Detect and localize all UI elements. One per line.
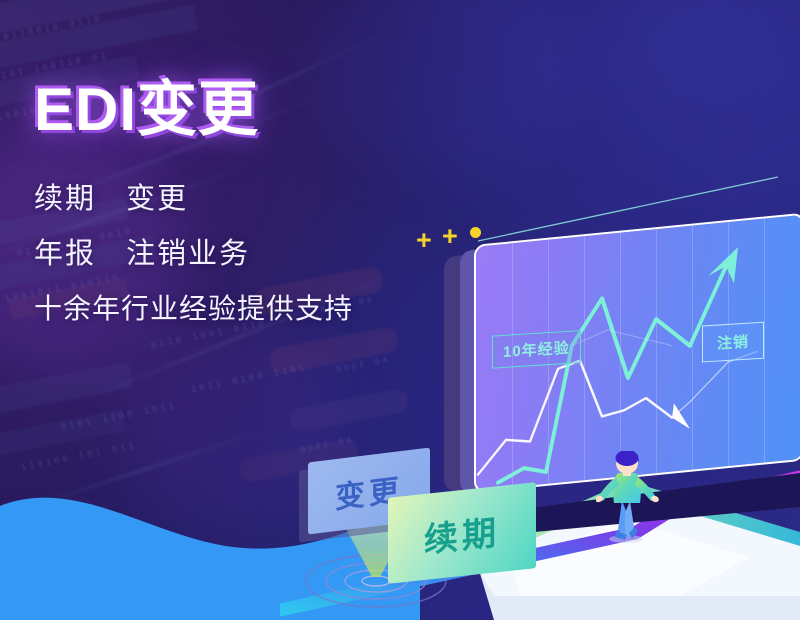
promo-banner: 10110010 0110 0101 100110 01 110010 0101… bbox=[0, 0, 800, 620]
page-title: EDI变更 bbox=[34, 78, 353, 141]
thin-connector-line bbox=[478, 175, 778, 245]
copy-block: EDI变更 续期 变更 年报 注销业务 十余年行业经验提供支持 bbox=[34, 78, 353, 323]
person-figure bbox=[596, 451, 668, 543]
card-renew-label: 续期 bbox=[424, 505, 500, 562]
plus-decoration-2: + bbox=[442, 223, 458, 250]
plus-decoration-1: + bbox=[416, 227, 432, 254]
subtitle-line-1: 续期 变更 bbox=[34, 185, 353, 214]
card-renew[interactable]: 续期 bbox=[388, 482, 536, 584]
screen-label-cancel: 注销 bbox=[702, 322, 764, 363]
subtitle-line-2: 年报 注销业务 bbox=[34, 240, 353, 269]
illustration: 10年经验 注销 + + bbox=[280, 215, 800, 620]
subtitle-list: 续期 变更 年报 注销业务 十余年行业经验提供支持 bbox=[34, 185, 353, 323]
subtitle-line-3: 十余年行业经验提供支持 bbox=[34, 295, 353, 323]
screen-label-experience: 10年经验 bbox=[492, 330, 581, 369]
